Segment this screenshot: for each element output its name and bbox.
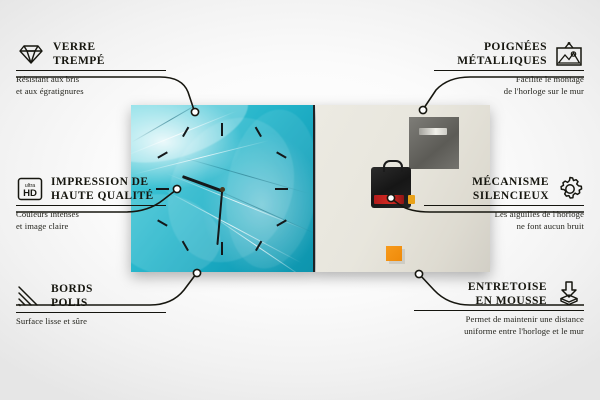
- ultra-hd-icon-large-text: HD: [23, 188, 37, 199]
- infographic-canvas: VERRE TREMPÉ Résistant aux bris et aux é…: [0, 0, 600, 400]
- feature-title-line1: BORDS: [51, 283, 93, 295]
- feature-description: Les aiguilles de l'horloge ne font aucun…: [424, 209, 584, 232]
- feature-title-line1: MÉCANISME: [472, 176, 549, 188]
- mechanism-hanger-loop: [383, 160, 403, 172]
- clock-center-cap: [220, 187, 225, 192]
- feature-divider: [424, 205, 584, 206]
- clock-tick: [275, 188, 288, 190]
- feature-description: Surface lisse et sûre: [16, 316, 166, 327]
- feature-divider: [434, 70, 584, 71]
- feature-divider: [16, 312, 166, 313]
- feature-title: VERRE TREMPÉ: [53, 40, 105, 68]
- feature-title-line2: EN MOUSSE: [476, 295, 547, 307]
- foam-spacer: [386, 246, 402, 261]
- feature-verre-trempe: VERRE TREMPÉ Résistant aux bris et aux é…: [16, 40, 166, 97]
- hanger-slot: [419, 128, 447, 135]
- picture-hanger-icon: [554, 41, 584, 68]
- feature-description: Résistant aux bris et aux égratignures: [16, 74, 166, 97]
- feature-title: POIGNÉES MÉTALLIQUES: [457, 40, 547, 68]
- feature-description: Couleurs intenses et image claire: [16, 209, 166, 232]
- feature-desc-line1: Résistant aux bris: [16, 74, 79, 84]
- clock-tick: [221, 123, 223, 136]
- feature-header: VERRE TREMPÉ: [16, 40, 166, 68]
- feature-desc-line2: uniforme entre l'horloge et le mur: [464, 326, 584, 336]
- ultra-hd-icon: ultra HD: [16, 176, 44, 202]
- feature-header: POIGNÉES MÉTALLIQUES: [434, 40, 584, 68]
- feature-impression-haute-qualite: ultra HD IMPRESSION DE HAUTE QUALITÉ Cou…: [16, 175, 166, 232]
- gear-icon: [556, 175, 584, 203]
- feature-title-line1: IMPRESSION DE: [51, 176, 149, 188]
- feature-desc-line2: ne font aucun bruit: [517, 221, 584, 231]
- feature-title-line1: ENTRETOISE: [468, 281, 547, 293]
- feature-bords-polis: BORDS POLIS Surface lisse et sûre: [16, 282, 166, 328]
- feature-desc-line1: Couleurs intenses: [16, 209, 79, 219]
- battery: [374, 195, 404, 204]
- clock-mechanism: [371, 167, 411, 208]
- feature-title-line1: POIGNÉES: [484, 41, 547, 53]
- feature-header: BORDS POLIS: [16, 282, 166, 310]
- feature-title: ENTRETOISE EN MOUSSE: [468, 280, 547, 308]
- feature-header: ENTRETOISE EN MOUSSE: [414, 280, 584, 308]
- feature-desc-line1: Facilite le montage: [516, 74, 584, 84]
- feature-entretoise-en-mousse: ENTRETOISE EN MOUSSE Permet de maintenir…: [414, 280, 584, 337]
- feature-header: ultra HD IMPRESSION DE HAUTE QUALITÉ: [16, 175, 166, 203]
- feature-title: BORDS POLIS: [51, 282, 93, 310]
- feature-title: IMPRESSION DE HAUTE QUALITÉ: [51, 175, 154, 203]
- feature-description: Permet de maintenir une distance uniform…: [414, 314, 584, 337]
- metal-hanger-plate: [409, 117, 459, 169]
- feature-poignees-metalliques: POIGNÉES MÉTALLIQUES Facilite le montage…: [434, 40, 584, 97]
- feature-header: MÉCANISME SILENCIEUX: [424, 175, 584, 203]
- feature-desc-line1: Surface lisse et sûre: [16, 316, 87, 326]
- feature-title-line2: SILENCIEUX: [473, 190, 549, 202]
- feature-divider: [16, 205, 166, 206]
- feature-mecanisme-silencieux: MÉCANISME SILENCIEUX Les aiguilles de l'…: [424, 175, 584, 232]
- feature-divider: [16, 70, 166, 71]
- feature-title-line1: VERRE: [53, 41, 96, 53]
- clock-tick: [221, 242, 223, 255]
- diamond-icon: [16, 42, 46, 66]
- feature-desc-line2: et aux égratignures: [16, 86, 84, 96]
- feature-desc-line1: Permet de maintenir une distance: [466, 314, 584, 324]
- polished-edges-icon: [16, 284, 44, 308]
- feature-title: MÉCANISME SILENCIEUX: [472, 175, 549, 203]
- feature-desc-line2: de l'horloge sur le mur: [504, 86, 584, 96]
- feature-title-line2: HAUTE QUALITÉ: [51, 190, 154, 202]
- feature-title-line2: POLIS: [51, 297, 88, 309]
- battery-terminal: [408, 195, 415, 204]
- feature-desc-line1: Les aiguilles de l'horloge: [495, 209, 584, 219]
- feature-title-line2: MÉTALLIQUES: [457, 55, 547, 67]
- foam-spacer-icon: [554, 280, 584, 308]
- feature-desc-line2: et image claire: [16, 221, 68, 231]
- feature-title-line2: TREMPÉ: [53, 55, 105, 67]
- feature-description: Facilite le montage de l'horloge sur le …: [434, 74, 584, 97]
- feature-divider: [414, 310, 584, 311]
